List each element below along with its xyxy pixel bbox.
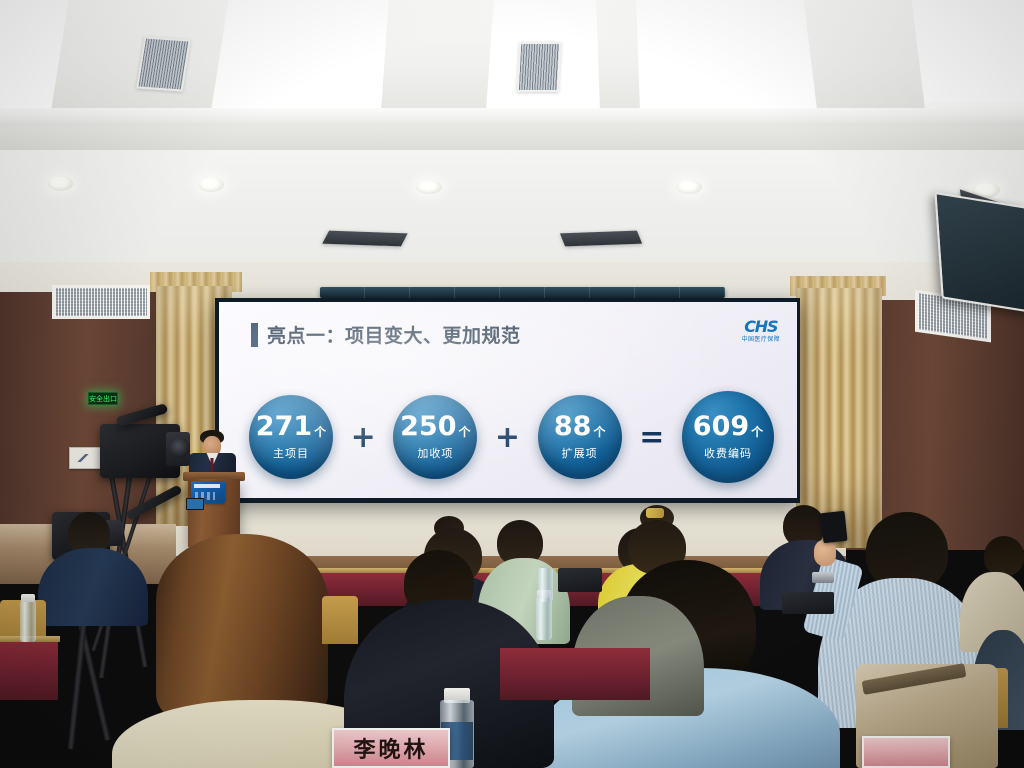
stat-label: 收费编码 [704, 445, 752, 461]
wristwatch [812, 572, 834, 583]
bottle-body [538, 568, 553, 602]
ceiling-edge-band [0, 108, 1024, 126]
audience-head [984, 536, 1024, 576]
laptop [558, 568, 602, 592]
bottle-cap [21, 594, 35, 602]
conference-photo: 安全出口 亮点一：项目变大、更加规范 CHS 中国医疗保障 271 [0, 0, 1024, 768]
hair-clip [646, 508, 664, 518]
camera-lens [170, 438, 190, 458]
operator-equals: = [639, 420, 664, 455]
ceiling-upper [0, 0, 1024, 172]
chair-backrest [322, 596, 358, 644]
stat-unit: 个 [593, 426, 605, 438]
stat-value: 88 [554, 413, 592, 440]
operator-plus-2: + [495, 420, 520, 455]
presentation-slide: 亮点一：项目变大、更加规范 CHS 中国医疗保障 271 个 主项目 + [219, 302, 797, 498]
stat-bubble-billing-codes: 609 个 收费编码 [682, 391, 774, 483]
photographer-hand [814, 540, 836, 566]
stat-number: 609 个 [693, 413, 763, 440]
ceiling-beam [381, 0, 495, 118]
ceiling-air-vent [136, 36, 191, 91]
camera-monitor [186, 498, 204, 510]
stat-number: 250 个 [400, 413, 470, 440]
wall-speaker-right [934, 192, 1024, 313]
stat-label: 主项目 [273, 445, 309, 461]
ceiling-beam [596, 0, 640, 118]
ceiling-air-vent [517, 42, 562, 92]
slide-equation-row: 271 个 主项目 + 250 个 加收项 + 88 [249, 381, 774, 493]
laptop [782, 592, 834, 614]
audience-desk-front-left [0, 640, 58, 700]
stat-unit: 个 [751, 426, 763, 438]
operator-plus-1: + [351, 420, 376, 455]
stat-unit: 个 [314, 426, 326, 438]
ceiling-light-panel [205, 0, 390, 112]
stat-label: 扩展项 [562, 445, 598, 461]
ceiling-light-panel [905, 0, 1024, 102]
stat-value: 271 [256, 413, 312, 440]
stat-value: 250 [400, 413, 456, 440]
bottle-body [536, 596, 552, 640]
wall-air-grille-left [52, 285, 150, 319]
ceiling-downlight [48, 176, 73, 191]
exit-sign-label: 安全出口 [89, 394, 117, 404]
ceiling-linear-vent [560, 231, 642, 247]
ceiling-downlight [676, 180, 702, 194]
slide-title-row: 亮点一：项目变大、更加规范 [251, 321, 521, 348]
stat-bubble-main-items: 271 个 主项目 [249, 395, 333, 479]
stat-unit: 个 [459, 426, 471, 438]
smartphone [820, 511, 847, 543]
ceiling-beam [802, 0, 925, 115]
ceiling-downlight [198, 177, 224, 192]
chs-logo: CHS 中国医疗保障 [742, 319, 780, 343]
stat-number: 271 个 [256, 413, 326, 440]
stat-number: 88 个 [554, 413, 606, 440]
stat-label: 加收项 [417, 445, 453, 461]
stat-value: 609 [693, 413, 749, 440]
audience-shoulders [38, 548, 148, 626]
stat-bubble-surcharge-items: 250 个 加收项 [393, 395, 477, 479]
nameplate-right [862, 736, 950, 768]
bottle-body [20, 600, 36, 642]
exit-sign-left: 安全出口 [88, 392, 118, 405]
wall-notice-plaque [69, 447, 102, 469]
title-accent-bar [251, 323, 258, 347]
stat-bubble-extension-items: 88 个 扩展项 [538, 395, 622, 479]
projection-screen-frame: 亮点一：项目变大、更加规范 CHS 中国医疗保障 271 个 主项目 + [215, 298, 800, 503]
ceiling-edge-shadow [0, 126, 1024, 150]
ceiling-linear-vent [322, 231, 407, 247]
slide-title: 亮点一：项目变大、更加规范 [267, 321, 521, 348]
screen-soundbar [320, 287, 725, 298]
audience-desk-front-right [500, 648, 650, 700]
ceiling-downlight [416, 180, 442, 194]
chs-logo-subtitle: 中国医疗保障 [742, 337, 780, 343]
nameplate-text: 李晚林 [353, 732, 428, 764]
ceiling-light-panel [625, 0, 820, 108]
chs-logo-mark: CHS [742, 319, 780, 335]
nameplate-front: 李晚林 [332, 728, 450, 768]
